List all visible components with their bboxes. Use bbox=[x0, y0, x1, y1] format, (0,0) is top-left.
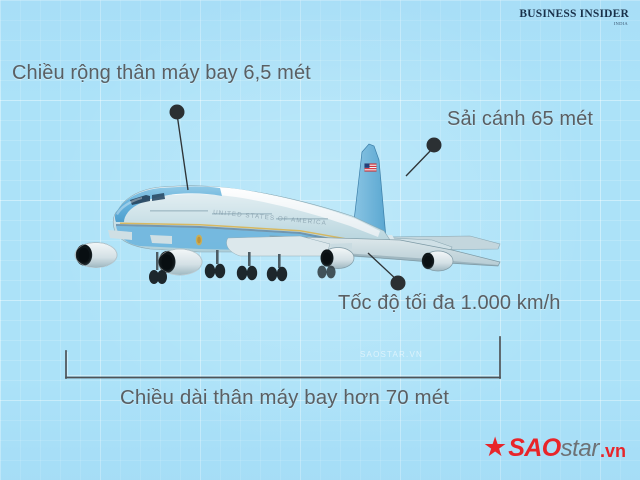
length-measure-bracket bbox=[66, 337, 500, 378]
faint-watermark: SAOSTAR.VN bbox=[360, 350, 423, 359]
annotation-fuselage-width: Chiều rộng thân máy bay 6,5 mét bbox=[12, 62, 311, 85]
business-insider-subtitle: INDIA bbox=[519, 22, 628, 27]
business-insider-logo: BUSINESS INSIDER INDIA bbox=[519, 9, 629, 27]
aircraft-air-force-one: UNITED STATES OF AMERICA bbox=[75, 144, 500, 284]
saostar-sao-text: SAO bbox=[508, 436, 560, 461]
leader-wingspan bbox=[406, 147, 434, 176]
business-insider-wordmark: BUSINESS INSIDER bbox=[519, 9, 629, 21]
star-icon: ★ bbox=[483, 434, 507, 461]
us-flag-icon bbox=[365, 164, 377, 172]
leader-dot-speed bbox=[391, 276, 406, 291]
leader-dot-width bbox=[170, 105, 185, 120]
saostar-logo: ★ SAO star .vn bbox=[483, 435, 626, 462]
annotation-max-speed: Tốc độ tối đa 1.000 km/h bbox=[338, 292, 561, 315]
leader-dot-wingspan bbox=[427, 138, 442, 153]
engine-1 bbox=[75, 230, 132, 268]
annotation-fuselage-length: Chiều dài thân máy bay hơn 70 mét bbox=[120, 386, 449, 410]
saostar-star-text: star bbox=[561, 437, 599, 461]
annotation-wingspan: Sải cánh 65 mét bbox=[447, 108, 593, 131]
leader-width bbox=[177, 114, 188, 190]
saostar-vn-text: .vn bbox=[600, 442, 626, 460]
presidential-seal bbox=[196, 235, 202, 246]
length-measure-bracket-highlight bbox=[67, 352, 499, 376]
